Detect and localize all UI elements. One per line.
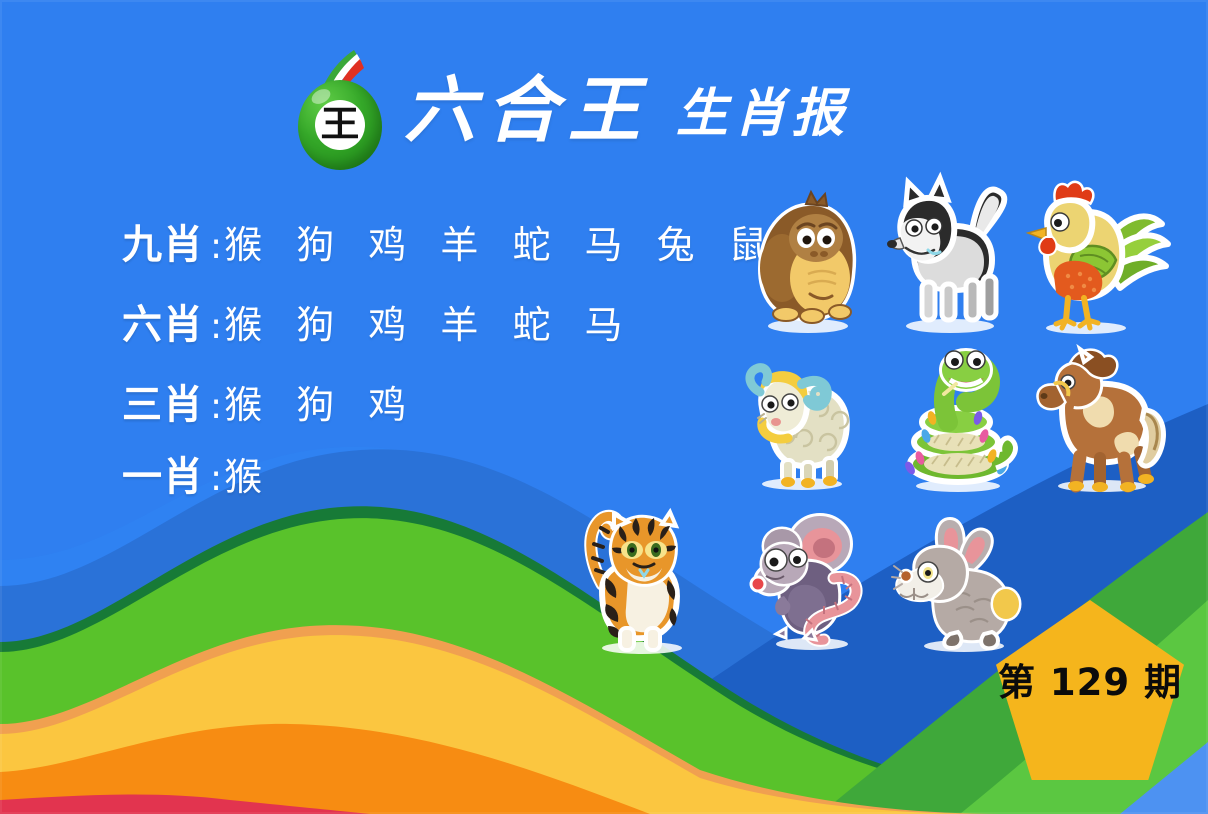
poster-canvas: 王 六合王 生肖报 九肖 : 猴 狗 鸡 羊 蛇 马 兔 鼠 虎 六肖 : 猴 … bbox=[0, 0, 1208, 814]
prediction-colon: : bbox=[204, 458, 224, 499]
animal-sticker-rat bbox=[750, 512, 872, 652]
issue-badge-label: 第 129 期 bbox=[996, 652, 1184, 706]
prediction-values: 猴 bbox=[224, 446, 273, 501]
prediction-label: 三肖 bbox=[122, 372, 204, 430]
prediction-values: 猴 狗 鸡 羊 蛇 马 bbox=[224, 294, 633, 349]
animal-sticker-snake bbox=[896, 344, 1022, 494]
prediction-colon: : bbox=[204, 386, 224, 427]
prediction-row: 六肖 : 猴 狗 鸡 羊 蛇 马 bbox=[122, 292, 634, 350]
prediction-row: 一肖 : 猴 bbox=[122, 444, 273, 502]
animal-sticker-tiger bbox=[576, 504, 704, 656]
prediction-colon: : bbox=[204, 306, 224, 347]
animal-sticker-dog bbox=[884, 176, 1014, 336]
prediction-colon: : bbox=[204, 226, 224, 267]
issue-badge: 第 129 期 bbox=[996, 600, 1184, 780]
animal-sticker-rooster bbox=[1024, 180, 1170, 336]
prediction-label: 一肖 bbox=[122, 444, 204, 502]
animal-sticker-monkey bbox=[748, 186, 866, 336]
prediction-row: 三肖 : 猴 狗 鸡 bbox=[122, 372, 417, 430]
animal-sticker-goat bbox=[744, 352, 862, 492]
prediction-values: 猴 狗 鸡 bbox=[224, 374, 417, 429]
prediction-label: 九肖 bbox=[122, 212, 204, 270]
prediction-list: 九肖 : 猴 狗 鸡 羊 蛇 马 兔 鼠 虎 六肖 : 猴 狗 鸡 羊 蛇 马 … bbox=[0, 0, 760, 520]
prediction-label: 六肖 bbox=[122, 292, 204, 350]
animal-sticker-horse bbox=[1028, 348, 1168, 494]
prediction-row: 九肖 : 猴 狗 鸡 羊 蛇 马 兔 鼠 虎 bbox=[122, 212, 850, 270]
